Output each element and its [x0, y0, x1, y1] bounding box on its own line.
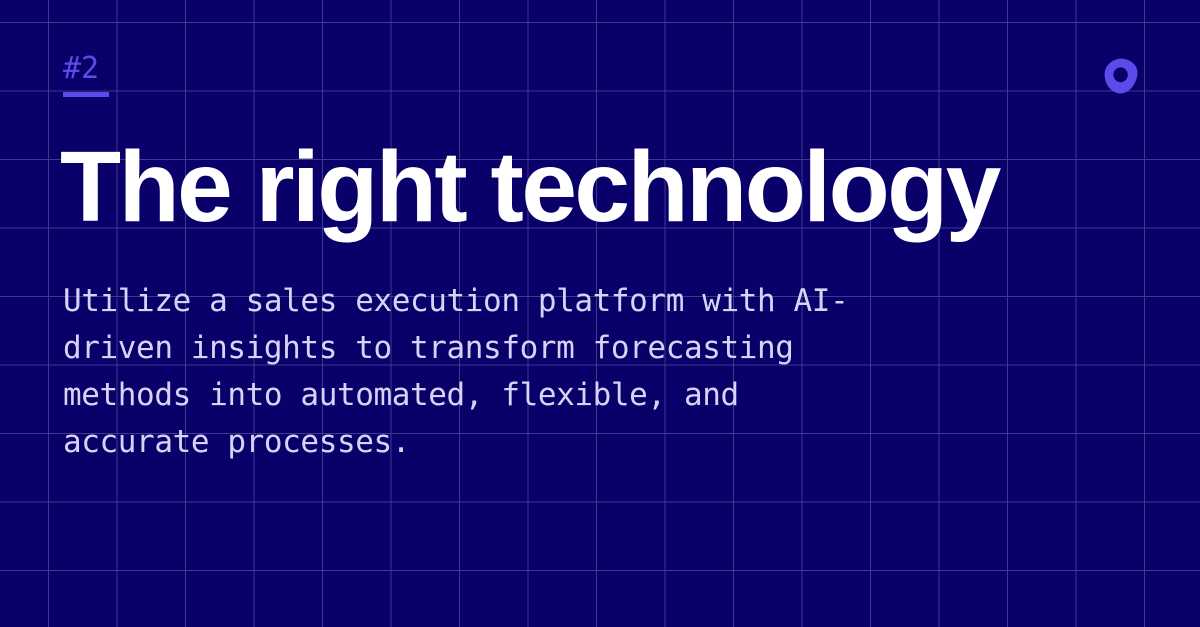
- step-number-label: #2: [63, 52, 183, 86]
- badge-underline-rule: [63, 92, 109, 97]
- body-line: methods into automated, flexible, and: [63, 372, 1023, 419]
- body-paragraph: Utilize a sales execution platform with …: [63, 278, 1023, 466]
- body-line: driven insights to transform forecasting: [63, 325, 1023, 372]
- body-line: accurate processes.: [63, 419, 1023, 466]
- body-line: Utilize a sales execution platform with …: [63, 278, 1023, 325]
- slide-canvas: #2 The right technology Utilize a sales …: [0, 0, 1200, 627]
- step-number-badge: #2: [63, 52, 183, 97]
- brand-logo-mark: [1104, 58, 1138, 94]
- page-title: The right technology: [60, 135, 1150, 239]
